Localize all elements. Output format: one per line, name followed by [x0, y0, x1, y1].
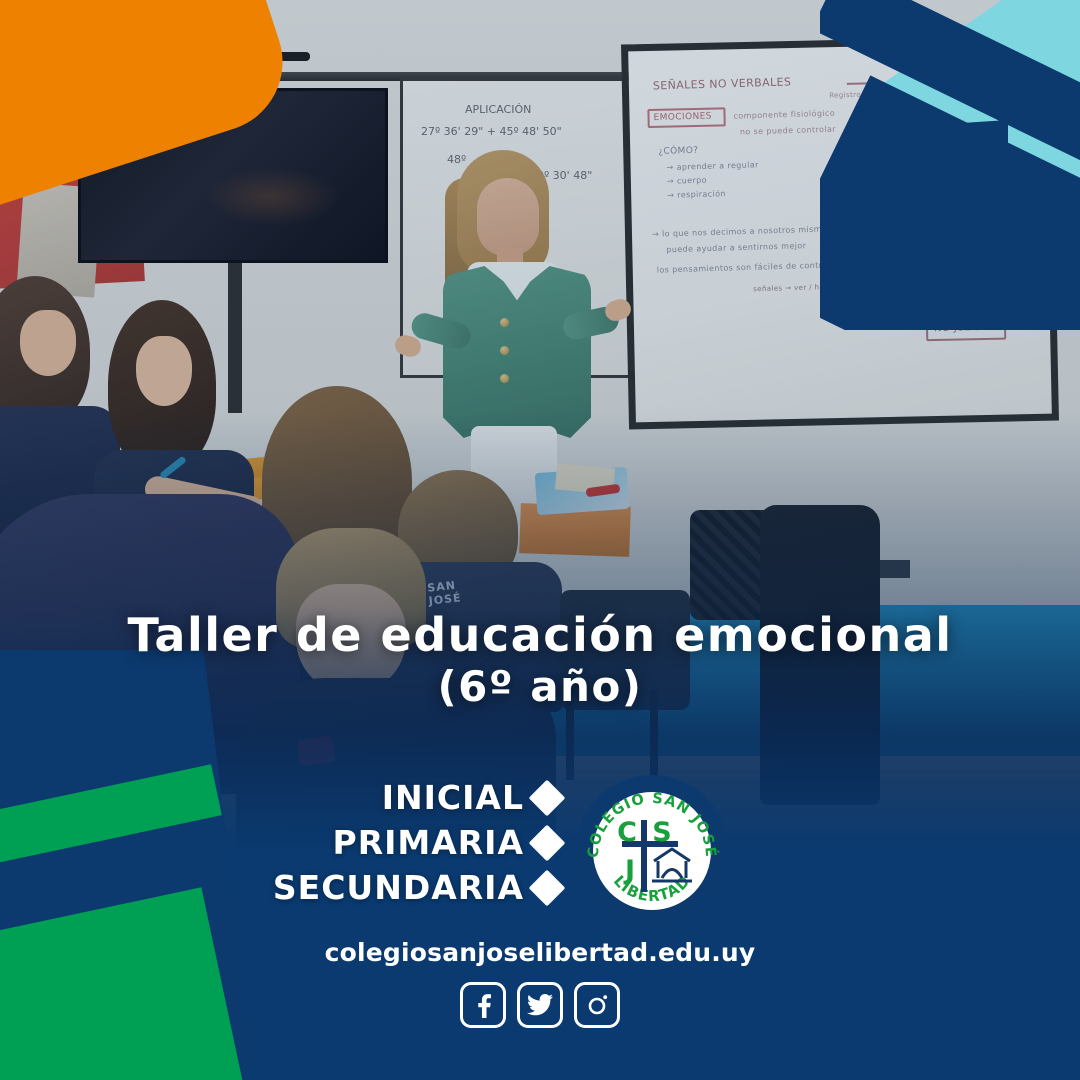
- level-item-secundaria[interactable]: SECUNDARIA: [273, 868, 560, 907]
- title-main: Taller de educación emocional: [127, 608, 952, 662]
- overlay-content: Taller de educación emocional (6º año) I…: [0, 0, 1080, 1080]
- social-media-post: APLICACIÓN 27º 36' 29" + 45º 48' 50" 48º…: [0, 0, 1080, 1080]
- level-item-primaria[interactable]: PRIMARIA: [273, 823, 560, 862]
- level-label: INICIAL: [382, 778, 524, 817]
- level-item-inicial[interactable]: INICIAL: [273, 778, 560, 817]
- twitter-icon[interactable]: [517, 982, 563, 1028]
- level-label: SECUNDARIA: [273, 868, 524, 907]
- page-title: Taller de educación emocional (6º año): [0, 608, 1080, 712]
- logo-letter-c: C: [617, 817, 637, 848]
- diamond-icon: [529, 824, 566, 861]
- diamond-icon: [529, 869, 566, 906]
- title-subtitle: (6º año): [0, 662, 1080, 712]
- levels-list: INICIAL PRIMARIA SECUNDARIA: [273, 778, 560, 913]
- stable-manger-icon: [652, 849, 692, 881]
- school-logo[interactable]: COLEGIO SAN JOSÉ LIBERTAD C S J: [576, 775, 728, 927]
- diamond-icon: [529, 779, 566, 816]
- level-label: PRIMARIA: [333, 823, 524, 862]
- instagram-icon[interactable]: [574, 982, 620, 1028]
- social-links: [0, 982, 1080, 1028]
- website-url[interactable]: colegiosanjoselibertad.edu.uy: [0, 938, 1080, 967]
- facebook-icon[interactable]: [460, 982, 506, 1028]
- logo-letter-s: S: [652, 817, 671, 848]
- logo-letter-j: J: [623, 855, 635, 886]
